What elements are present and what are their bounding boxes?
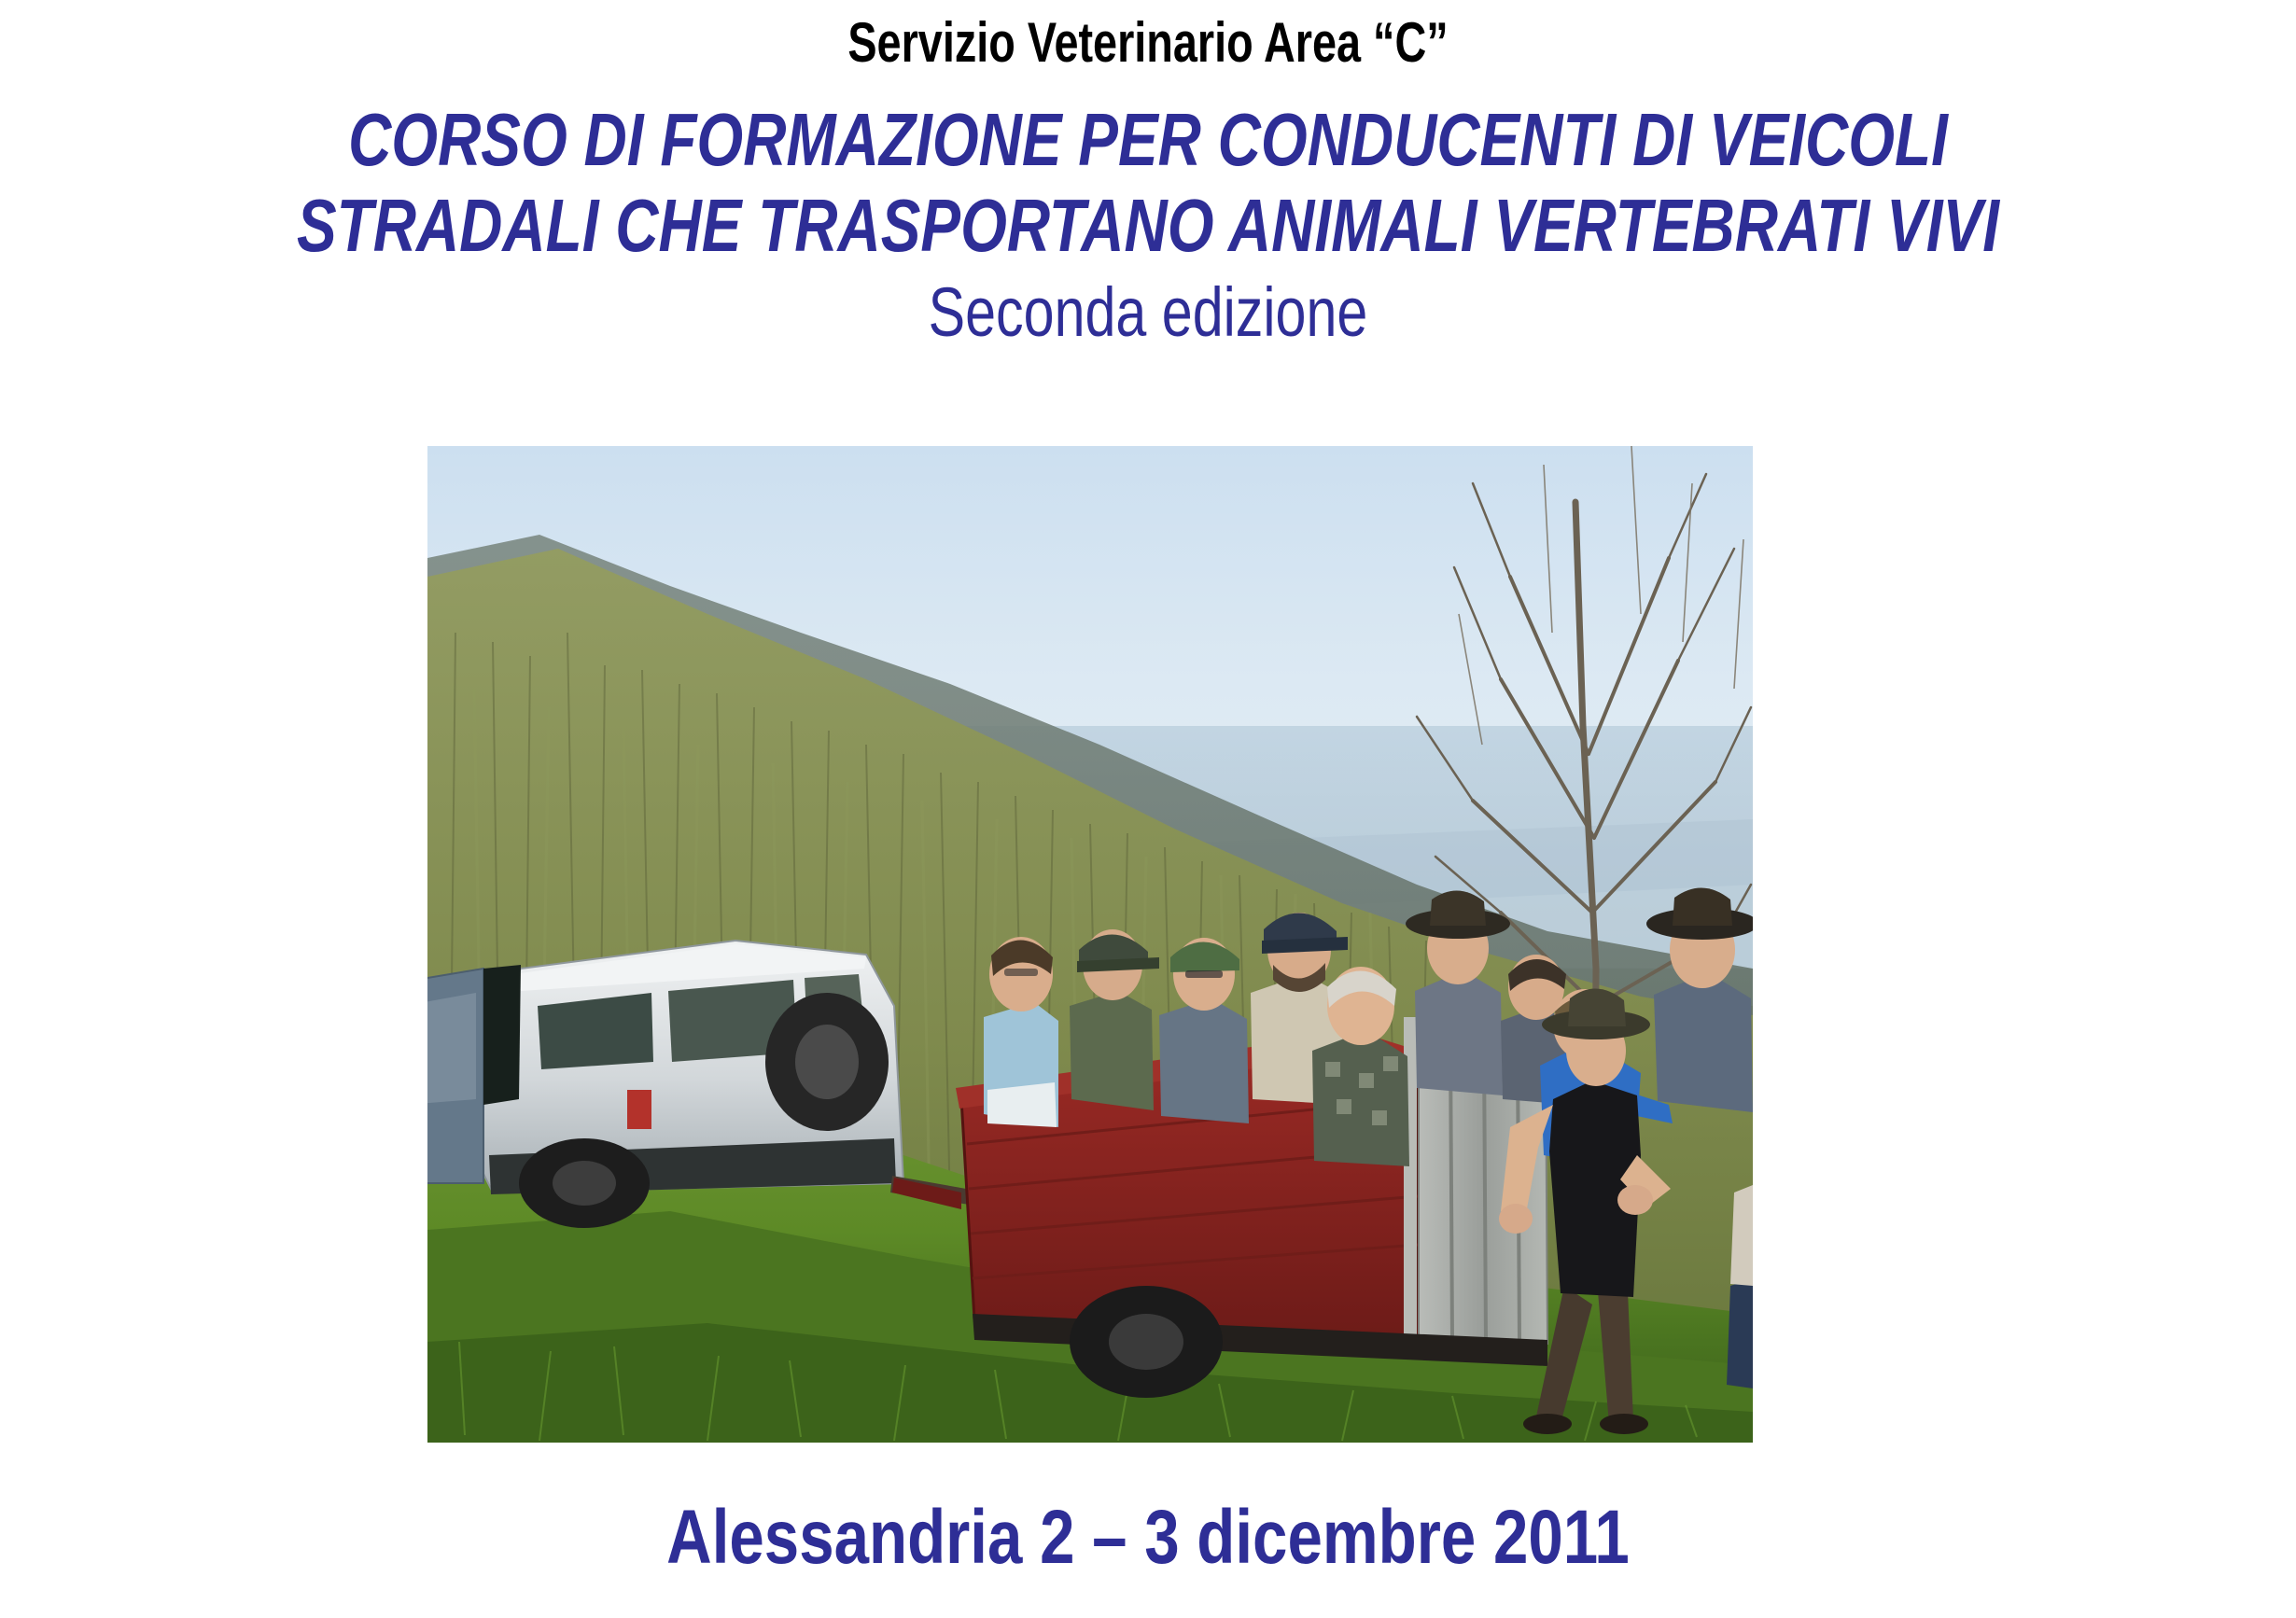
- edition-line: Seconda edizione: [230, 272, 2066, 353]
- heading-block: Servizio Veterinario Area “C” CORSO DI F…: [0, 0, 2296, 353]
- service-line: Servizio Veterinario Area “C”: [253, 9, 2044, 77]
- course-title-line-1: CORSO DI FORMAZIONE PER CONDUCENTI DI VE…: [230, 97, 2066, 183]
- slide-root: Servizio Veterinario Area “C” CORSO DI F…: [0, 0, 2296, 1618]
- location-date-line: Alessandria 2 – 3 dicembre 2011: [206, 1493, 2089, 1583]
- photo-illustration: [427, 446, 1753, 1443]
- course-title-line-2: STRADALI CHE TRASPORTANO ANIMALI VERTEBR…: [230, 183, 2066, 269]
- course-photo: [427, 446, 1753, 1443]
